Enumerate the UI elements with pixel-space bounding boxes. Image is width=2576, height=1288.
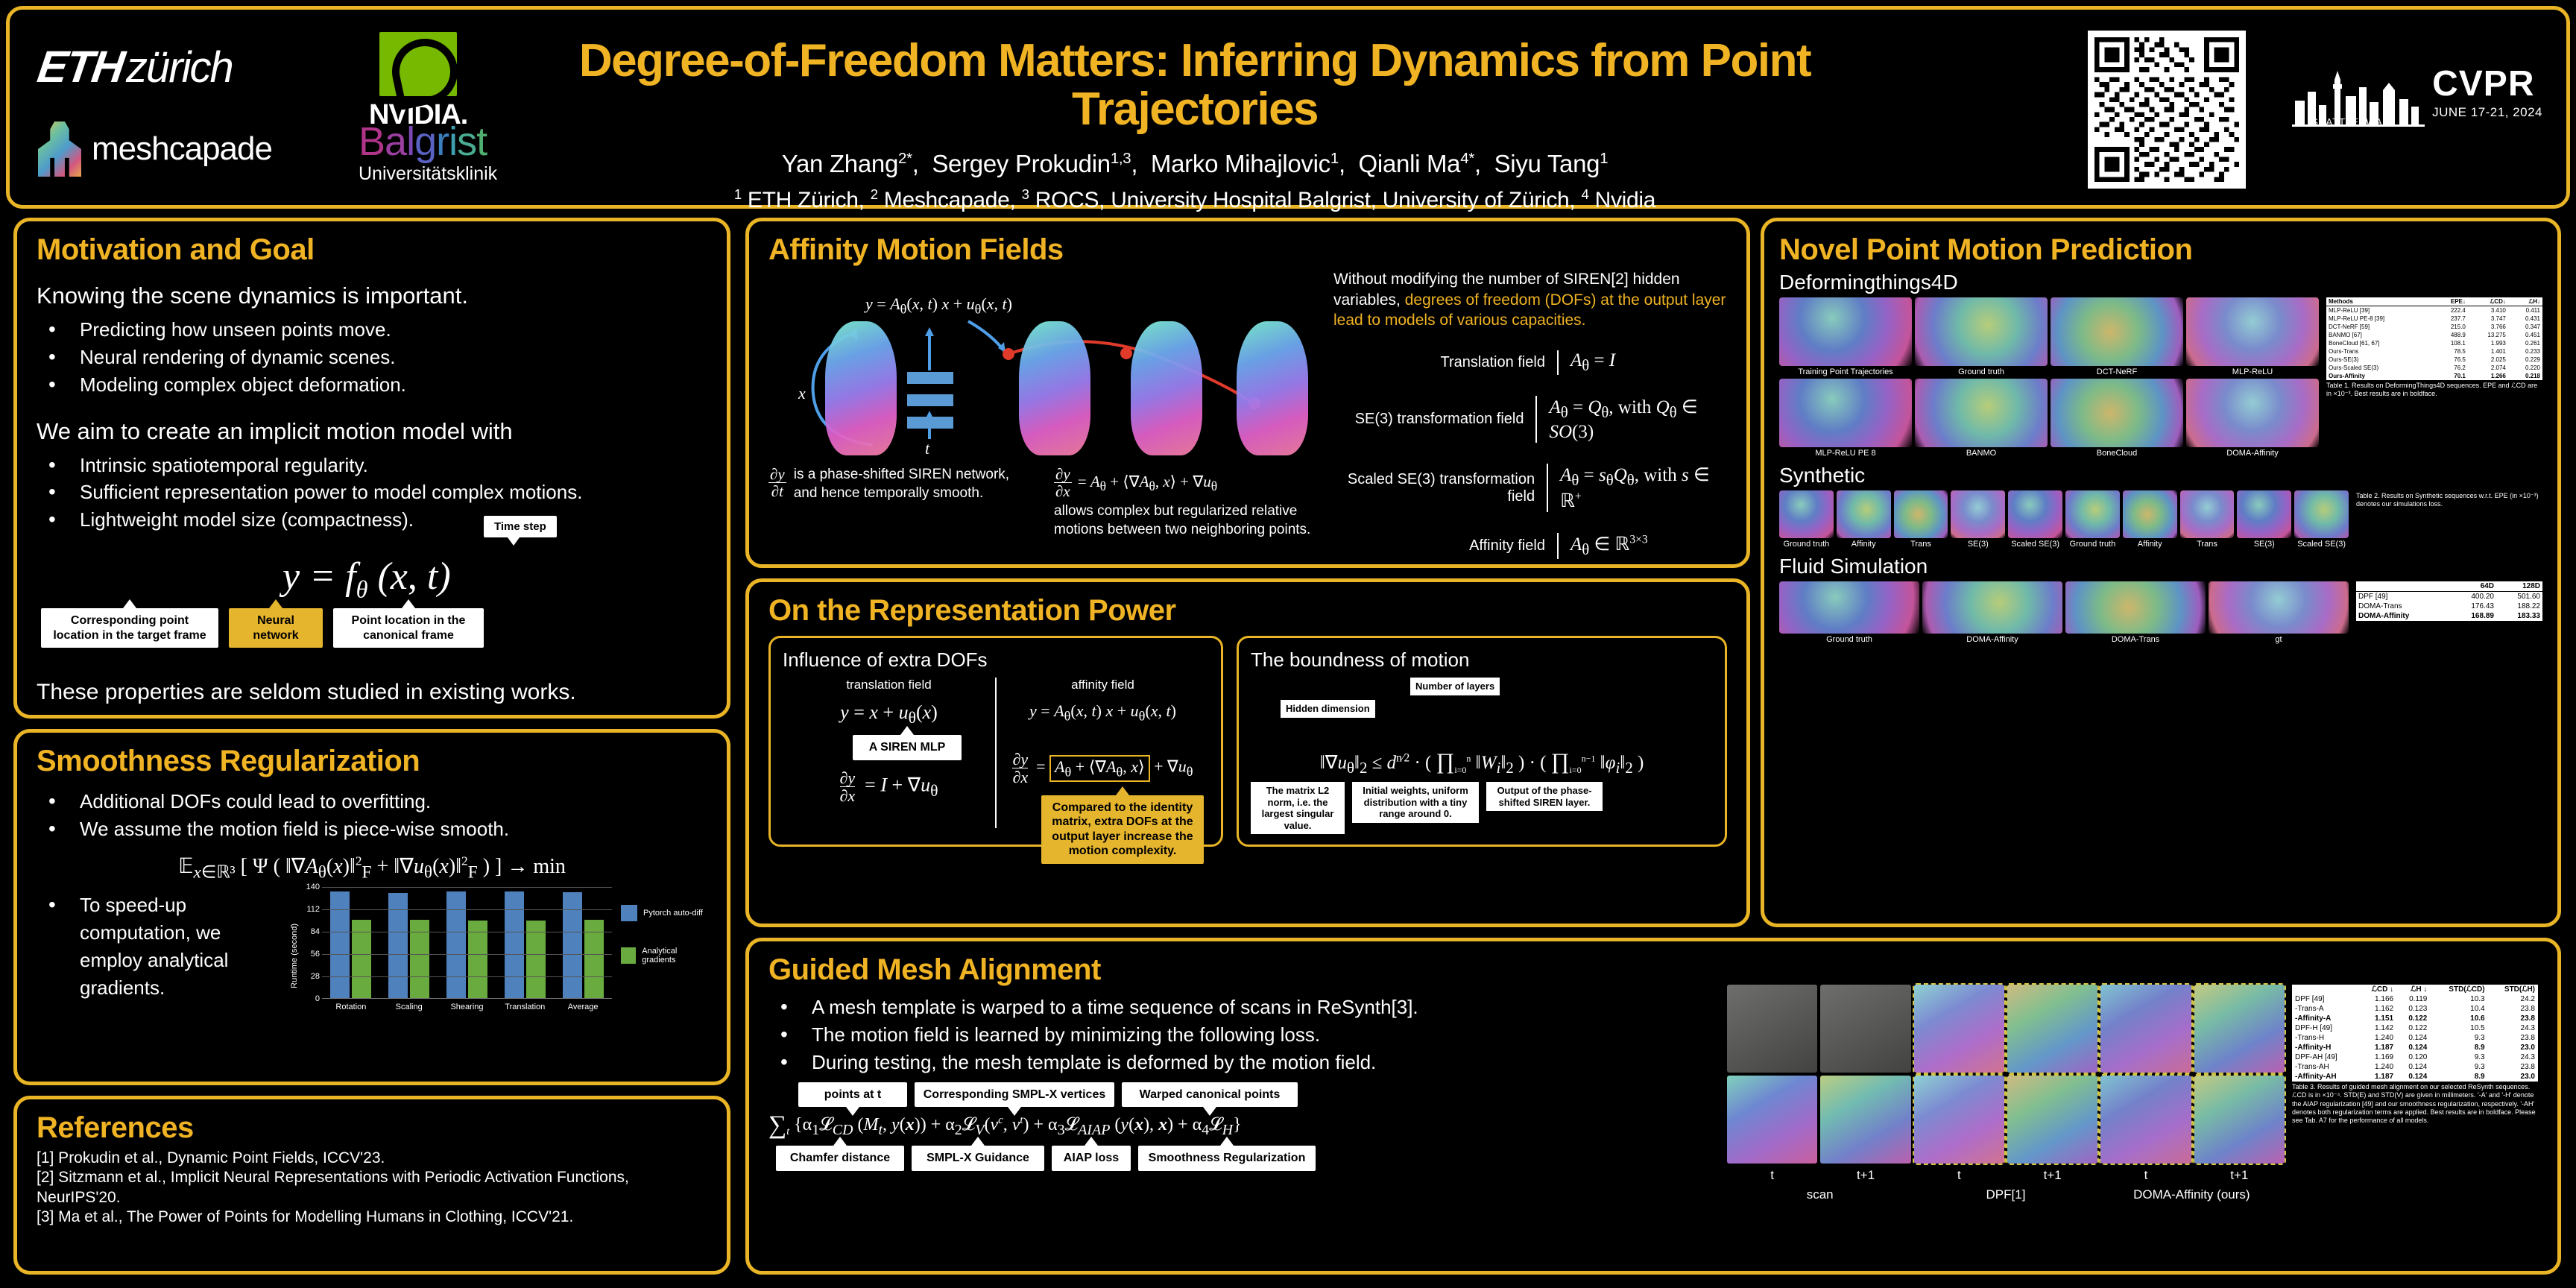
- table-cell: DCT-NeRF [59]: [2326, 323, 2434, 331]
- list-item: Additional DOFs could lead to overfittin…: [37, 788, 707, 815]
- section-guided-mesh-alignment: Guided Mesh Alignment A mesh template is…: [745, 938, 2561, 1275]
- table-2-caption: Table 2. Results on Synthetic sequences …: [2356, 492, 2542, 509]
- chart-x-label: Translation: [496, 1003, 554, 1011]
- group-label: DOMA-Affinity (ours): [2099, 1187, 2285, 1202]
- mesh-alignment-thumbnail: [2194, 1076, 2285, 1164]
- fluid-result-thumbnail: [2209, 581, 2349, 634]
- table-cell: 0.347: [2508, 323, 2542, 331]
- table-cell: 0.233: [2508, 347, 2542, 356]
- reference-item: [3] Ma et al., The Power of Points for M…: [37, 1207, 707, 1227]
- chart-gridline: [322, 954, 612, 955]
- axis-label-t: t: [925, 439, 929, 458]
- table-cell: 23.8: [2488, 1014, 2538, 1023]
- table-row: DPF-AH [49]1.1690.1209.324.3: [2292, 1052, 2538, 1062]
- d4d-thumbnails-row-2: [1779, 379, 2319, 447]
- dydt-description: is a phase-shifted SIREN network, and he…: [794, 466, 1035, 502]
- table-cell: Ours-Affinity: [2326, 372, 2434, 380]
- fluid-thumbnails: [1779, 581, 2349, 634]
- table-3-container: ℒCD ↓ℒH ↓STD(ℒCD)STD(ℒH)DPF [49]1.1660.1…: [2292, 985, 2538, 1202]
- synthetic-result-thumbnail: [1837, 490, 1891, 538]
- mesh-alignment-thumbnail: [1914, 985, 2004, 1073]
- table-cell: -Affinity-AH: [2292, 1072, 2358, 1082]
- chart-y-tick: 56: [311, 950, 320, 959]
- reference-item: [2] Sitzmann et al., Implicit Neural Rep…: [37, 1168, 707, 1207]
- affiliation-list: 1 ETH Zürich, 2 Meshcapade, 3 ROCS, Univ…: [487, 186, 1903, 213]
- fluid-table: 64D128DDPF [49]400.20501.60DOMA-Trans176…: [2356, 581, 2542, 621]
- mesh-figure-frame-1: [1019, 321, 1090, 455]
- table-cell: 215.0: [2434, 323, 2468, 331]
- reference-item: [1] Prokudin et al., Dynamic Point Field…: [37, 1149, 707, 1168]
- synthetic-result-thumbnail: [1894, 490, 1948, 538]
- axis-label-x: x: [798, 384, 806, 403]
- balgrist-subtitle: Universitätsklinik: [359, 163, 497, 185]
- column-label: t+1: [2007, 1168, 2097, 1183]
- table-cell: 222.4: [2434, 306, 2468, 315]
- affinity-headline: Without modifying the number of SIREN[2]…: [1333, 269, 1727, 331]
- group-label: scan: [1727, 1187, 1913, 1202]
- seattle-skyline-icon: SEATTLE, WA: [2292, 57, 2425, 129]
- chart-x-label: Scaling: [380, 1003, 438, 1011]
- eth-zurich-logo: ETH zürich: [38, 41, 233, 92]
- motivation-title: Motivation and Goal: [37, 235, 707, 265]
- thumbnail-caption: gt: [2209, 635, 2349, 644]
- section-smoothness-regularization: Smoothness Regularization Additional DOF…: [13, 729, 730, 1085]
- table-cell: 76.5: [2434, 356, 2468, 364]
- table-cell: 0.119: [2396, 994, 2430, 1004]
- table-header-cell: EPE↓: [2434, 297, 2468, 306]
- runtime-bar-chart: Runtime (second) 0285684112140 RotationS…: [290, 887, 707, 1025]
- table-header-cell: ℒCD↓: [2468, 297, 2508, 306]
- table-cell: DPF-AH [49]: [2292, 1052, 2358, 1062]
- poster-title: Degree-of-Freedom Matters: Inferring Dyn…: [487, 37, 1903, 133]
- d4d-result-thumbnail: [2186, 297, 2319, 366]
- thumbnail-caption: Ground truth: [2065, 540, 2120, 549]
- table-header-cell: 128D: [2496, 581, 2542, 592]
- translation-field-equation-1: y = x + uθ(x): [789, 701, 989, 727]
- meshcapade-wordmark: meshcapade: [92, 130, 272, 168]
- influence-of-extra-dofs-box: Influence of extra DOFs translation fiel…: [768, 636, 1223, 847]
- smoothness-bullets-2: To speed-up computation, we employ analy…: [37, 891, 282, 1002]
- section-references: References [1] Prokudin et al., Dynamic …: [13, 1096, 730, 1275]
- table-row: MLP-ReLU [39]222.43.4100.411: [2326, 306, 2542, 315]
- table-row: DOMA-Trans176.43188.22: [2356, 602, 2542, 611]
- fluid-result-thumbnail: [1779, 581, 1919, 634]
- mesh-alignment-thumbnail: [1914, 1076, 2004, 1164]
- nvidia-eye-icon: [379, 32, 457, 96]
- translation-field-column: translation field y = x + uθ(x) A SIREN …: [783, 678, 995, 828]
- cvpr-logo: SEATTLE, WA CVPR JUNE 17-21, 2024: [2292, 57, 2542, 129]
- table-cell: 0.124: [2396, 1033, 2430, 1043]
- table-cell: -Affinity-H: [2292, 1043, 2358, 1052]
- table-cell: 0.451: [2508, 331, 2542, 339]
- table-cell: 0.122: [2396, 1023, 2430, 1033]
- tag-hidden-dimension: Hidden dimension: [1281, 700, 1375, 718]
- thumbnail-caption: Scaled SE(3): [2008, 540, 2062, 549]
- chart-y-tick: 112: [306, 905, 320, 914]
- guided-qualitative-figure: tt+1tt+1tt+1 scan DPF[1] DOMA-Affinity (…: [1727, 985, 2285, 1202]
- thumbnail-caption: Ground truth: [1915, 367, 2048, 376]
- list-item: Lightweight model size (compactness).: [37, 506, 707, 534]
- table-cell: 501.60: [2496, 592, 2542, 602]
- guided-title: Guided Mesh Alignment: [768, 955, 2538, 985]
- thumbnail-caption: SE(3): [2237, 540, 2291, 549]
- table-header-cell: [2356, 581, 2450, 592]
- callout-points-at-t: points at t: [798, 1082, 907, 1108]
- table-cell: 1.142: [2358, 1023, 2396, 1033]
- qr-code-image: [2094, 37, 2239, 182]
- table-row: DPF [49]1.1660.11910.324.2: [2292, 994, 2538, 1004]
- list-item: We assume the motion field is piece-wise…: [37, 815, 707, 843]
- d4d-result-thumbnail: [1915, 297, 2048, 366]
- table-cell: 0.124: [2396, 1043, 2430, 1052]
- chart-bar: [446, 891, 466, 999]
- thumbnail-caption: Affinity: [1837, 540, 1891, 549]
- table-1-container: MethodsEPE↓ℒCD↓ℒH↓MLP-ReLU [39]222.43.41…: [2326, 297, 2542, 458]
- chart-gridline: [322, 887, 612, 888]
- chart-y-tick: 28: [311, 972, 320, 981]
- thumbnail-caption: Trans: [2180, 540, 2235, 549]
- table-cell: 488.9: [2434, 331, 2468, 339]
- table-cell: 1.401: [2468, 347, 2508, 356]
- d4d-thumbnails-row-1: [1779, 297, 2319, 366]
- table-row: -Affinity-A1.1510.12210.623.8: [2292, 1014, 2538, 1023]
- table-cell: 0.124: [2396, 1062, 2430, 1072]
- table-row: Translation field Aθ = I: [1333, 350, 1727, 375]
- table-cell: 0.218: [2508, 372, 2542, 380]
- dof-row-equation: Aθ ∈ ℝ3×3: [1557, 533, 1648, 559]
- boundness-equation: ‖∇uθ‖2 ≤ dn⁄2 · ( ∏i=0n ‖Wi‖2 ) · ( ∏i=0…: [1251, 749, 1713, 777]
- mesh-figure-frame-3: [1237, 321, 1308, 455]
- chart-legend-label: Pytorch auto-diff: [643, 909, 703, 918]
- table-cell: Ours-SE(3): [2326, 356, 2434, 364]
- table-cell: 2.074: [2468, 364, 2508, 372]
- list-item: During testing, the mesh template is def…: [768, 1049, 1715, 1076]
- chart-gridline: [322, 909, 612, 910]
- translation-field-label: translation field: [789, 678, 989, 692]
- table-cell: BoneCloud [61, 67]: [2326, 339, 2434, 347]
- mesh-alignment-thumbnail: [1727, 1076, 1817, 1164]
- synthetic-result-thumbnail: [2123, 490, 2177, 538]
- qr-code[interactable]: [2088, 31, 2246, 189]
- thumbnail-caption: DOMA-Affinity: [2186, 449, 2319, 458]
- table-cell: 1.169: [2358, 1052, 2396, 1062]
- table-row: -Trans-AH1.2400.1249.323.8: [2292, 1062, 2538, 1072]
- list-item: Neural rendering of dynamic scenes.: [37, 344, 707, 371]
- table-row: DPF-H [49]1.1420.12210.524.3: [2292, 1023, 2538, 1033]
- callout-canonical-frame: Point location in the canonical frame: [333, 608, 484, 648]
- table-cell: 3.766: [2468, 323, 2508, 331]
- mesh-alignment-thumbnail: [1820, 1076, 1910, 1164]
- synthetic-result-thumbnail: [1779, 490, 1834, 538]
- table-cell: 168.89: [2450, 611, 2496, 621]
- boundness-heading: The boundness of motion: [1251, 648, 1713, 672]
- callout-chamfer-distance: Chamfer distance: [776, 1146, 904, 1171]
- subsection-fluid-simulation: Fluid Simulation: [1779, 555, 2542, 578]
- table-cell: 1.187: [2358, 1043, 2396, 1052]
- chart-legend-label: Analytical gradients: [642, 947, 707, 965]
- column-label: t+1: [1820, 1168, 1910, 1183]
- table-cell: 237.7: [2434, 315, 2468, 323]
- chart-legend-item: Pytorch auto-diff: [621, 905, 707, 921]
- thumbnail-caption: BoneCloud: [2051, 449, 2183, 458]
- table-cell: 10.5: [2430, 1023, 2487, 1033]
- chart-bar: [330, 891, 350, 999]
- chart-x-label: Shearing: [438, 1003, 496, 1011]
- table-cell: DOMA-Affinity: [2356, 611, 2450, 621]
- callout-neural-network: Neural network: [229, 608, 323, 648]
- table-cell: 183.33: [2496, 611, 2542, 621]
- table-header-cell: STD(ℒH): [2488, 985, 2538, 994]
- callout-extra-dofs: Compared to the identity matrix, extra D…: [1041, 795, 1204, 864]
- table-3: ℒCD ↓ℒH ↓STD(ℒCD)STD(ℒH)DPF [49]1.1660.1…: [2292, 985, 2538, 1082]
- motivation-closing: These properties are seldom studied in e…: [37, 680, 707, 705]
- dof-row-equation: Aθ = Qθ, with Qθ ∈ SO(3): [1535, 396, 1727, 443]
- thumbnail-caption: DOMA-Affinity: [1922, 635, 2062, 644]
- chart-bar-group: [554, 887, 612, 998]
- mesh-alignment-thumbnail: [1727, 985, 1817, 1073]
- chart-legend-swatch: [621, 905, 637, 921]
- poster-header: ETH zürich meshcapade NVIDIA. Balgrist U…: [6, 6, 2570, 209]
- synthetic-thumbnails: [1779, 490, 2349, 538]
- table-cell: 10.6: [2430, 1014, 2487, 1023]
- list-item: Intrinsic spatiotemporal regularity.: [37, 452, 707, 479]
- table-cell: DPF-H [49]: [2292, 1023, 2358, 1033]
- table-row: Affinity field Aθ ∈ ℝ3×3: [1333, 533, 1727, 559]
- chart-bar-group: [438, 887, 496, 998]
- table-cell: MLP-ReLU PE-8 [39]: [2326, 315, 2434, 323]
- mesh-alignment-thumbnail: [2007, 985, 2097, 1073]
- table-cell: 13.275: [2468, 331, 2508, 339]
- motivation-equation: y = fθ (x, t): [282, 555, 451, 603]
- tag-siren-output: Output of the phase-shifted SIREN layer.: [1486, 782, 1603, 811]
- d4d-result-thumbnail: [1915, 379, 2048, 447]
- section-motivation-and-goal: Motivation and Goal Knowing the scene dy…: [13, 218, 730, 719]
- table-cell: DPF [49]: [2356, 592, 2450, 602]
- synthetic-result-thumbnail: [2008, 490, 2062, 538]
- table-cell: 1.240: [2358, 1062, 2396, 1072]
- poster-root: ETH zürich meshcapade NVIDIA. Balgrist U…: [0, 0, 2576, 1288]
- list-item: Predicting how unseen points move.: [37, 316, 707, 344]
- dydx-description: allows complex but regularized relative …: [1054, 502, 1320, 539]
- table-row: BoneCloud [61, 67]108.11.9930.261: [2326, 339, 2542, 347]
- table-cell: 0.431: [2508, 315, 2542, 323]
- d4d-captions-row-2: MLP-ReLU PE 8BANMOBoneCloudDOMA-Affinity: [1779, 449, 2319, 458]
- thumbnail-caption: DCT-NeRF: [2051, 367, 2183, 376]
- table-cell: 0.123: [2396, 1004, 2430, 1014]
- table-row: Ours-Scaled SE(3)76.22.0740.220: [2326, 364, 2542, 372]
- table-cell: 1.162: [2358, 1004, 2396, 1014]
- dydx-equation: = Aθ + ⟨∇Aθ, x⟩ + ∇uθ: [1078, 466, 1217, 495]
- eth-logo-italic: zürich: [126, 42, 233, 92]
- synthetic-result-thumbnail: [2294, 490, 2349, 538]
- table-cell: 0.220: [2508, 364, 2542, 372]
- translation-field-equation-2: ∂y∂x = I + ∇uθ: [789, 769, 989, 804]
- dydt-fraction: ∂y∂t: [768, 466, 786, 499]
- chart-legend-item: Analytical gradients: [621, 947, 707, 965]
- callout-smplx-guidance: SMPL-X Guidance: [912, 1146, 1044, 1171]
- table-cell: 0.122: [2396, 1014, 2430, 1023]
- list-item: The motion field is learned by minimizin…: [768, 1021, 1715, 1049]
- table-cell: 0.411: [2508, 306, 2542, 315]
- table-cell: 2.025: [2468, 356, 2508, 364]
- smoothness-equation: 𝔼x∈ℝ³ [ Ψ ( ‖∇Aθ(x)‖2F + ‖∇uθ(x)‖2F ) ] …: [37, 853, 707, 883]
- boundness-of-motion-box: The boundness of motion Number of layers…: [1237, 636, 1727, 847]
- table-row: -Affinity-H1.1870.1248.923.0: [2292, 1043, 2538, 1052]
- callout-smoothness-regularization: Smoothness Regularization: [1138, 1146, 1316, 1171]
- affinity-title: Affinity Motion Fields: [768, 235, 1727, 265]
- siren-layer-block: [907, 417, 953, 429]
- chart-bar: [563, 892, 582, 999]
- thumbnail-caption: BANMO: [1915, 449, 2048, 458]
- dydx-fraction: ∂y∂x: [1054, 466, 1072, 499]
- chart-bar-group: [380, 887, 438, 998]
- column-label: t: [1914, 1168, 2004, 1183]
- table-cell: -Trans-A: [2292, 1004, 2358, 1014]
- affinity-field-equation-1: y = Aθ(x, t) x + uθ(x, t): [1003, 701, 1203, 724]
- d4d-result-thumbnail: [1779, 297, 1912, 366]
- column-label: t: [2100, 1168, 2191, 1183]
- table-row: -Affinity-AH1.1870.1248.923.0: [2292, 1072, 2538, 1082]
- chart-bar-group: [496, 887, 554, 998]
- table-cell: 188.22: [2496, 602, 2542, 611]
- table-row: Ours-Affinity70.11.2660.218: [2326, 372, 2542, 380]
- motivation-bullets-2: Intrinsic spatiotemporal regularity. Suf…: [37, 452, 707, 534]
- dof-row-equation: Aθ = sθQθ, with s ∈ ℝ+: [1547, 464, 1727, 512]
- thumbnail-caption: Scaled SE(3): [2294, 540, 2349, 549]
- section-representation-power: On the Representation Power Influence of…: [745, 578, 1750, 927]
- section-affinity-motion-fields: Affinity Motion Fields y = Aθ(x, t) x + …: [745, 218, 1750, 568]
- table-cell: 24.3: [2488, 1023, 2538, 1033]
- cvpr-city-label: SEATTLE, WA: [2311, 116, 2383, 127]
- table-cell: 24.3: [2488, 1052, 2538, 1062]
- table-cell: 76.2: [2434, 364, 2468, 372]
- mesh-alignment-thumbnail: [2194, 985, 2285, 1073]
- table-cell: 108.1: [2434, 339, 2468, 347]
- list-item: Sufficient representation power to model…: [37, 479, 707, 506]
- table-header-cell: ℒH↓: [2508, 297, 2542, 306]
- table-header-cell: Methods: [2326, 297, 2434, 306]
- table-1-caption: Table 1. Results on DeformingThings4D se…: [2326, 382, 2542, 399]
- thumbnail-caption: MLP-ReLU: [2186, 367, 2319, 376]
- table-1: MethodsEPE↓ℒCD↓ℒH↓MLP-ReLU [39]222.43.41…: [2326, 297, 2542, 380]
- table-header-cell: STD(ℒCD): [2430, 985, 2487, 994]
- chart-x-axis-labels: RotationScalingShearingTranslationAverag…: [322, 1003, 612, 1011]
- table-cell: 1.266: [2468, 372, 2508, 380]
- table-cell: 0.229: [2508, 356, 2542, 364]
- thumbnail-caption: Trans: [1894, 540, 1948, 549]
- list-item: Modeling complex object deformation.: [37, 371, 707, 399]
- chart-y-axis-ticks: 0285684112140: [301, 887, 322, 999]
- nvidia-logo: NVIDIA.: [369, 32, 467, 131]
- table-cell: 70.1: [2434, 372, 2468, 380]
- table-cell: 1.240: [2358, 1033, 2396, 1043]
- table-cell: 1.993: [2468, 339, 2508, 347]
- table-cell: 176.43: [2450, 602, 2496, 611]
- dof-row-equation: Aθ = I: [1557, 350, 1615, 375]
- thumbnail-caption: Training Point Trajectories: [1779, 367, 1912, 376]
- affinity-field-column: affinity field y = Aθ(x, t) x + uθ(x, t)…: [995, 678, 1209, 828]
- chart-y-tick: 84: [311, 927, 320, 936]
- table-cell: 23.8: [2488, 1033, 2538, 1043]
- mesh-figure-frame-2: [1131, 321, 1202, 455]
- chart-y-tick: 0: [315, 994, 320, 1003]
- section-novel-point-motion-prediction: Novel Point Motion Prediction Deformingt…: [1761, 218, 2561, 927]
- column-label: t: [1727, 1168, 1817, 1183]
- callout-smplx-vertices: Corresponding SMPL-X vertices: [915, 1082, 1114, 1108]
- thumbnail-caption: Ground truth: [1779, 540, 1834, 549]
- dof-table: Translation field Aθ = I SE(3) transform…: [1333, 350, 1727, 559]
- cvpr-wordmark: CVPR: [2432, 66, 2542, 102]
- thumbnail-caption: MLP-ReLU PE 8: [1779, 449, 1912, 458]
- affinity-figure: y = Aθ(x, t) x + uθ(x, t): [768, 269, 1320, 580]
- callout-time-step: Time step: [484, 516, 557, 537]
- smoothness-title: Smoothness Regularization: [37, 746, 707, 776]
- table-cell: Ours-Scaled SE(3): [2326, 364, 2434, 372]
- table-header-cell: [2292, 985, 2358, 994]
- references-title: References: [37, 1113, 707, 1143]
- chart-y-tick: 140: [306, 883, 320, 891]
- synthetic-result-thumbnail: [2180, 490, 2235, 538]
- siren-layer-block: [907, 394, 953, 406]
- table-header-cell: ℒCD ↓: [2358, 985, 2396, 994]
- table-header-cell: 64D: [2450, 581, 2496, 592]
- table-row: SE(3) transformation field Aθ = Qθ, with…: [1333, 396, 1727, 443]
- table-cell: -Affinity-A: [2292, 1014, 2358, 1023]
- mesh-alignment-thumbnail: [2100, 1076, 2191, 1164]
- motivation-lead-1: Knowing the scene dynamics is important.: [37, 281, 707, 312]
- chart-bar-group: [322, 887, 380, 998]
- callout-siren-mlp: A SIREN MLP: [853, 735, 962, 760]
- cvpr-date: JUNE 17-21, 2024: [2432, 105, 2542, 120]
- d4d-result-thumbnail: [2051, 297, 2183, 366]
- table-cell: 0.261: [2508, 339, 2542, 347]
- dof-row-name: Translation field: [1333, 354, 1557, 371]
- table-row: Ours-SE(3)76.52.0250.229: [2326, 356, 2542, 364]
- table-row: MLP-ReLU PE-8 [39]237.73.7470.431: [2326, 315, 2542, 323]
- table-cell: 78.5: [2434, 347, 2468, 356]
- chart-ylabel: Runtime (second): [290, 924, 299, 988]
- d4d-result-thumbnail: [2051, 379, 2183, 447]
- chart-bar: [505, 891, 524, 999]
- table-cell: 8.9: [2430, 1043, 2487, 1052]
- mesh-alignment-thumbnail: [1820, 985, 1910, 1073]
- table-cell: -Trans-H: [2292, 1033, 2358, 1043]
- table-3-caption: Table 3. Results of guided mesh alignmen…: [2292, 1083, 2538, 1125]
- table-cell: 1.151: [2358, 1014, 2396, 1023]
- author-list: Yan Zhang2*, Sergey Prokudin1,3, Marko M…: [487, 150, 1903, 178]
- eth-logo-bold: ETH: [34, 41, 127, 92]
- table-cell: 23.0: [2488, 1043, 2538, 1052]
- d4d-result-thumbnail: [2186, 379, 2319, 447]
- table-cell: 1.187: [2358, 1072, 2396, 1082]
- affinity-field-equation-2: ∂y∂x = Aθ + ⟨∇Aθ, x⟩ + ∇uθ: [1003, 751, 1203, 786]
- table-cell: 23.0: [2488, 1072, 2538, 1082]
- table-cell: 9.3: [2430, 1062, 2487, 1072]
- table-cell: DOMA-Trans: [2356, 602, 2450, 611]
- table-cell: Ours-Trans: [2326, 347, 2434, 356]
- table-cell: 400.20: [2450, 592, 2496, 602]
- chart-legend-swatch: [621, 947, 636, 964]
- table-cell: MLP-ReLU [39]: [2326, 306, 2434, 315]
- callout-target-frame: Corresponding point location in the targ…: [41, 608, 218, 648]
- fluid-result-thumbnail: [1922, 581, 2062, 634]
- chart-bar: [388, 893, 408, 998]
- table-row: Ours-Trans78.51.4010.233: [2326, 347, 2542, 356]
- loss-bottom-tags: Chamfer distance SMPL-X Guidance AIAP lo…: [776, 1146, 1715, 1171]
- dof-row-name: Affinity field: [1333, 537, 1557, 555]
- chart-gridline: [322, 932, 612, 932]
- d4d-captions-row-1: Training Point TrajectoriesGround truthD…: [1779, 367, 2319, 376]
